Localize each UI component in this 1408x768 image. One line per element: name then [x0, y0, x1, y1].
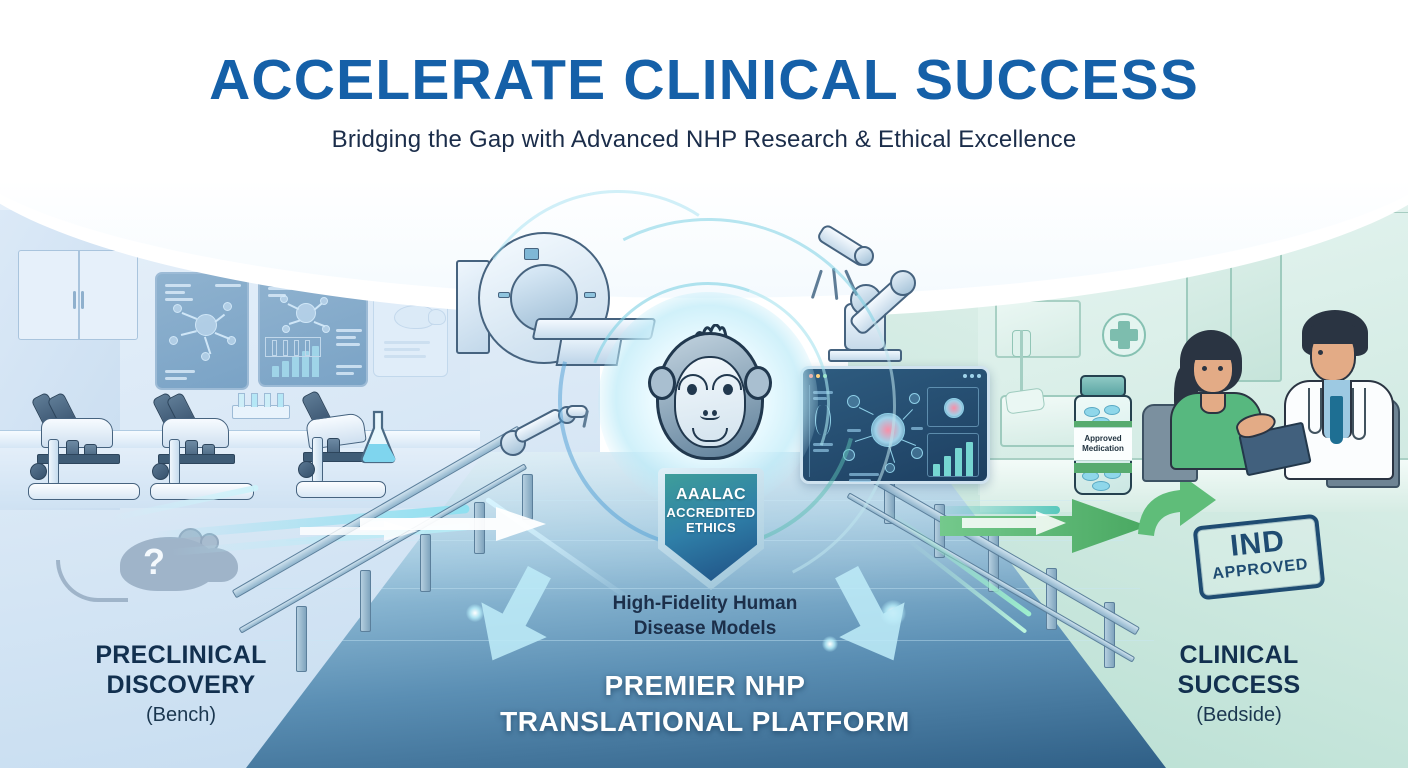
clinical-zone-label: CLINICAL SUCCESS (Bedside) — [1104, 640, 1374, 727]
center-subtitle-line-1: High-Fidelity Human — [560, 592, 850, 617]
nhp-monkey-head-icon — [648, 322, 772, 470]
shield-line-1: AAALAC — [658, 486, 764, 505]
shield-line-3: ETHICS — [658, 520, 764, 535]
doctor-figure-icon — [1288, 310, 1406, 480]
preclinical-zone-label: PRECLINICAL DISCOVERY (Bench) — [36, 640, 326, 727]
microscope-icon — [150, 362, 254, 500]
preclinical-label-line-2: DISCOVERY — [36, 670, 326, 700]
clinical-label-paren: (Bedside) — [1104, 704, 1374, 727]
microscope-icon — [28, 352, 140, 500]
ind-approved-stamp: IND APPROVED — [1192, 514, 1325, 601]
center-title-line-2: TRANSLATIONAL PLATFORM — [440, 704, 970, 740]
lab-cabinet — [18, 250, 138, 340]
infographic-canvas: ? — [0, 0, 1408, 768]
uncertainty-question-mark: ? — [143, 541, 165, 583]
flow-arrow-left-small — [300, 520, 420, 547]
shield-line-2: ACCREDITED — [658, 505, 764, 520]
medication-label-line1: Approved — [1084, 434, 1121, 443]
clinical-label-line-2: SUCCESS — [1104, 670, 1374, 700]
center-platform-title: PREMIER NHP TRANSLATIONAL PLATFORM — [440, 668, 970, 740]
clinic-window — [995, 300, 1081, 358]
preclinical-label-paren: (Bench) — [36, 704, 326, 727]
center-subtitle-line-2: Disease Models — [560, 617, 850, 642]
lab-shelf-tubes — [265, 337, 321, 357]
aaalac-ethics-shield-badge: AAALAC ACCREDITED ETHICS — [658, 468, 764, 590]
medication-label: Approved Medication — [1074, 427, 1132, 461]
medication-label-line2: Medication — [1082, 444, 1124, 453]
flask-icon — [358, 410, 398, 462]
medical-cross-bar-h — [1110, 329, 1138, 341]
flow-arrow-right-green — [940, 496, 1150, 561]
approved-medication-bottle: Approved Medication — [1072, 375, 1134, 495]
preclinical-label-line-1: PRECLINICAL — [36, 640, 326, 670]
center-subtitle: High-Fidelity Human Disease Models — [560, 592, 850, 641]
page-title: ACCELERATE CLINICAL SUCCESS — [0, 52, 1408, 109]
page-subtitle: Bridging the Gap with Advanced NHP Resea… — [0, 126, 1408, 154]
clinical-label-line-1: CLINICAL — [1104, 640, 1374, 670]
center-title-line-1: PREMIER NHP — [440, 668, 970, 704]
header-band: ACCELERATE CLINICAL SUCCESS Bridging the… — [0, 0, 1408, 172]
bridge-down-arrow-left — [472, 566, 558, 675]
test-tube-rack-icon — [232, 405, 290, 419]
